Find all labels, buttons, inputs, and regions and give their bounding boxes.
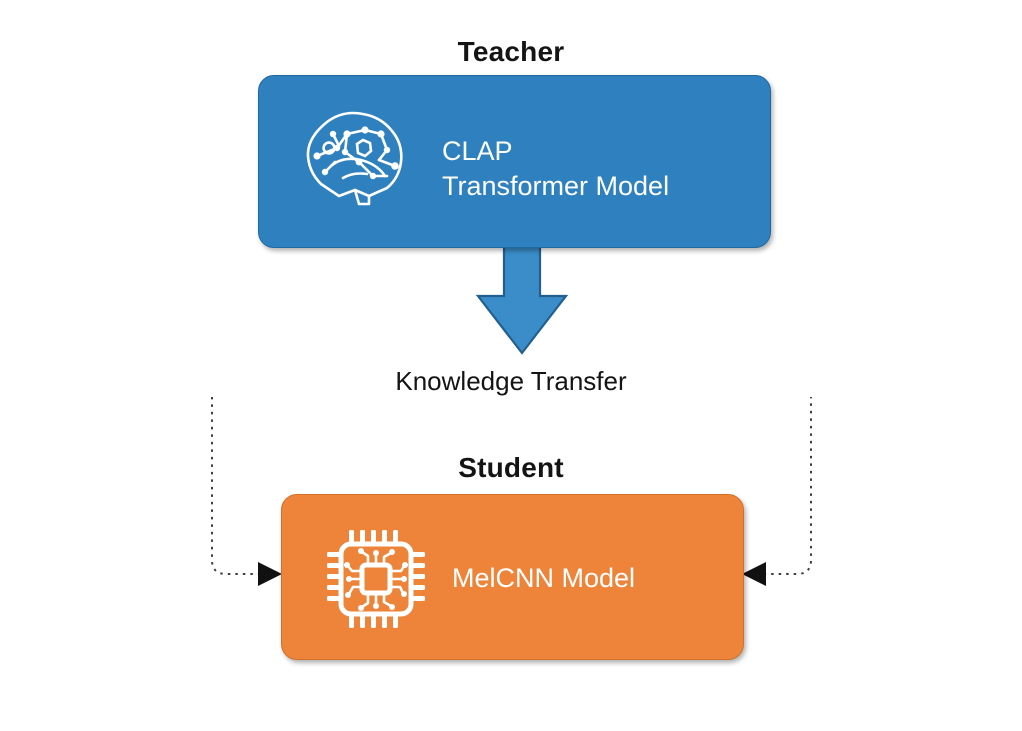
down-arrow-shape: [478, 240, 566, 353]
diagram-canvas: Teacher: [0, 0, 1022, 731]
left-arrowhead: [258, 562, 282, 586]
knowledge-transfer-label: Knowledge Transfer: [0, 366, 1022, 397]
student-caption: Student: [0, 452, 1022, 484]
right-arrowhead: [742, 562, 766, 586]
student-model-label: MelCNN Model: [452, 561, 635, 596]
teacher-caption: Teacher: [0, 36, 1022, 68]
teacher-to-student-arrow: [478, 240, 566, 353]
teacher-model-box[interactable]: CLAP Transformer Model: [258, 75, 771, 248]
teacher-model-label: CLAP Transformer Model: [442, 134, 669, 204]
cpu-chip-icon: [325, 528, 427, 630]
student-model-box[interactable]: MelCNN Model: [281, 494, 744, 660]
brain-network-icon: [295, 104, 411, 216]
